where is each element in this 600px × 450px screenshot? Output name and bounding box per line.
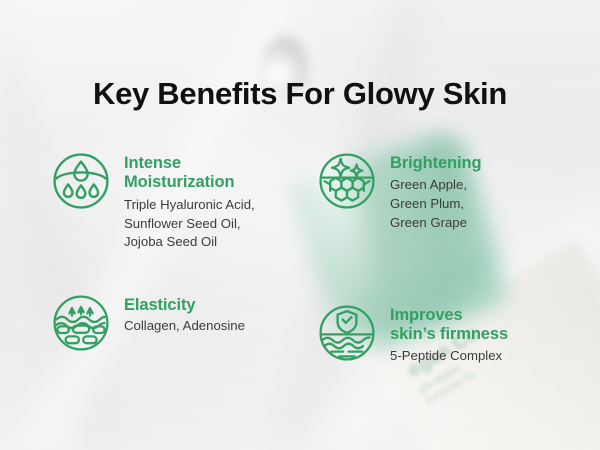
benefit-description: Collagen, Adenosine [124, 317, 245, 336]
poster-content: Key Benefits For Glowy Skin Intense Mois… [0, 0, 600, 450]
upward-arrows-cells-icon [52, 294, 110, 352]
benefit-title: Intense Moisturization [124, 154, 255, 193]
benefit-description: 5-Peptide Complex [390, 347, 508, 366]
benefit-texts: Intense Moisturization Triple Hyaluronic… [124, 152, 255, 252]
water-drops-icon [52, 152, 110, 210]
sparkle-honeycomb-icon [318, 152, 376, 210]
benefit-item-brightening: Brightening Green Apple, Green Plum, Gre… [318, 152, 481, 233]
benefit-description: Triple Hyaluronic Acid, Sunflower Seed O… [124, 196, 255, 252]
benefit-title: Brightening [390, 154, 481, 173]
benefit-texts: Improves skin’s firmness 5-Peptide Compl… [390, 304, 508, 366]
benefit-title: Improves skin’s firmness [390, 306, 508, 345]
benefit-item-improves-skins-firmness: Improves skin’s firmness 5-Peptide Compl… [318, 304, 508, 366]
benefit-texts: Elasticity Collagen, Adenosine [124, 294, 245, 336]
benefit-title: Elasticity [124, 296, 245, 315]
benefit-description: Green Apple, Green Plum, Green Grape [390, 176, 481, 232]
benefit-texts: Brightening Green Apple, Green Plum, Gre… [390, 152, 481, 233]
benefit-item-elasticity: Elasticity Collagen, Adenosine [52, 294, 245, 352]
shield-check-waves-icon [318, 304, 376, 362]
benefits-poster: egan Co ple Hyalu 5-Peptide Co Key Benef… [0, 0, 600, 450]
benefit-item-intense-moisturization: Intense Moisturization Triple Hyaluronic… [52, 152, 255, 252]
page-title: Key Benefits For Glowy Skin [0, 76, 600, 112]
